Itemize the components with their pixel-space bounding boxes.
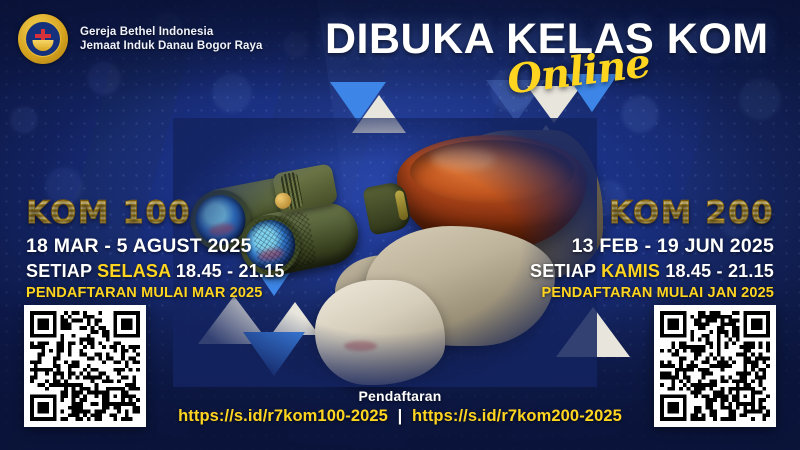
kom-100-schedule-time: 18.45 - 21.15 (176, 261, 285, 281)
kom-100-schedule: SETIAP SELASA 18.45 - 21.15 (26, 261, 316, 282)
organization-name: Gereja Bethel Indonesia Jemaat Induk Dan… (80, 25, 262, 53)
kom-200-schedule: SETIAP KAMIS 18.45 - 21.15 (484, 261, 774, 282)
org-line-1: Gereja Bethel Indonesia (80, 25, 262, 39)
link-kom-200[interactable]: https://s.id/r7kom200-2025 (412, 407, 622, 425)
kom-100-reg-month: MAR 2025 (192, 285, 263, 301)
poster-canvas: Gereja Bethel Indonesia Jemaat Induk Dan… (0, 0, 800, 450)
org-line-2: Jemaat Induk Danau Bogor Raya (80, 39, 262, 53)
kom-200-schedule-prefix: SETIAP (530, 261, 596, 281)
kom-200-schedule-day: KAMIS (601, 261, 660, 281)
kom-200-registration: PENDAFTARAN MULAI JAN 2025 (484, 285, 774, 301)
kom-200-date-range: 13 FEB - 19 JUN 2025 (484, 235, 774, 258)
class-block-kom-200: KOM 200 13 FEB - 19 JUN 2025 SETIAP KAMI… (484, 198, 774, 301)
kom-100-schedule-prefix: SETIAP (26, 261, 92, 281)
kom-200-reg-month: JAN 2025 (708, 285, 775, 301)
footer-registration: Pendaftaran https://s.id/r7kom100-2025 |… (0, 388, 800, 426)
kom-100-registration: PENDAFTARAN MULAI MAR 2025 (26, 285, 316, 301)
brand-header: Gereja Bethel Indonesia Jemaat Induk Dan… (18, 14, 262, 64)
logo-inner-disc (25, 21, 61, 57)
class-block-kom-100: KOM 100 18 MAR - 5 AGUST 2025 SETIAP SEL… (26, 198, 316, 301)
link-separator: | (398, 407, 403, 425)
gbi-seal-logo (18, 14, 68, 64)
kom-100-date-range: 18 MAR - 5 AGUST 2025 (26, 235, 316, 258)
kom-200-schedule-time: 18.45 - 21.15 (665, 261, 774, 281)
kom-200-heading: KOM 200 (484, 198, 774, 229)
chalice-icon (33, 40, 54, 51)
footer-links: https://s.id/r7kom100-2025 | https://s.i… (0, 407, 800, 426)
kom-100-schedule-day: SELASA (97, 261, 171, 281)
kom-100-heading: KOM 100 (26, 198, 316, 229)
binocular-eyecup (362, 180, 412, 235)
kom-200-reg-prefix: PENDAFTARAN MULAI (542, 285, 704, 301)
footer-label: Pendaftaran (0, 388, 800, 404)
kom-100-reg-prefix: PENDAFTARAN MULAI (26, 285, 188, 301)
cloth-knot-shape (315, 280, 445, 385)
title-block: DIBUKA KELAS KOM Online (325, 18, 787, 90)
link-kom-100[interactable]: https://s.id/r7kom100-2025 (178, 407, 388, 425)
